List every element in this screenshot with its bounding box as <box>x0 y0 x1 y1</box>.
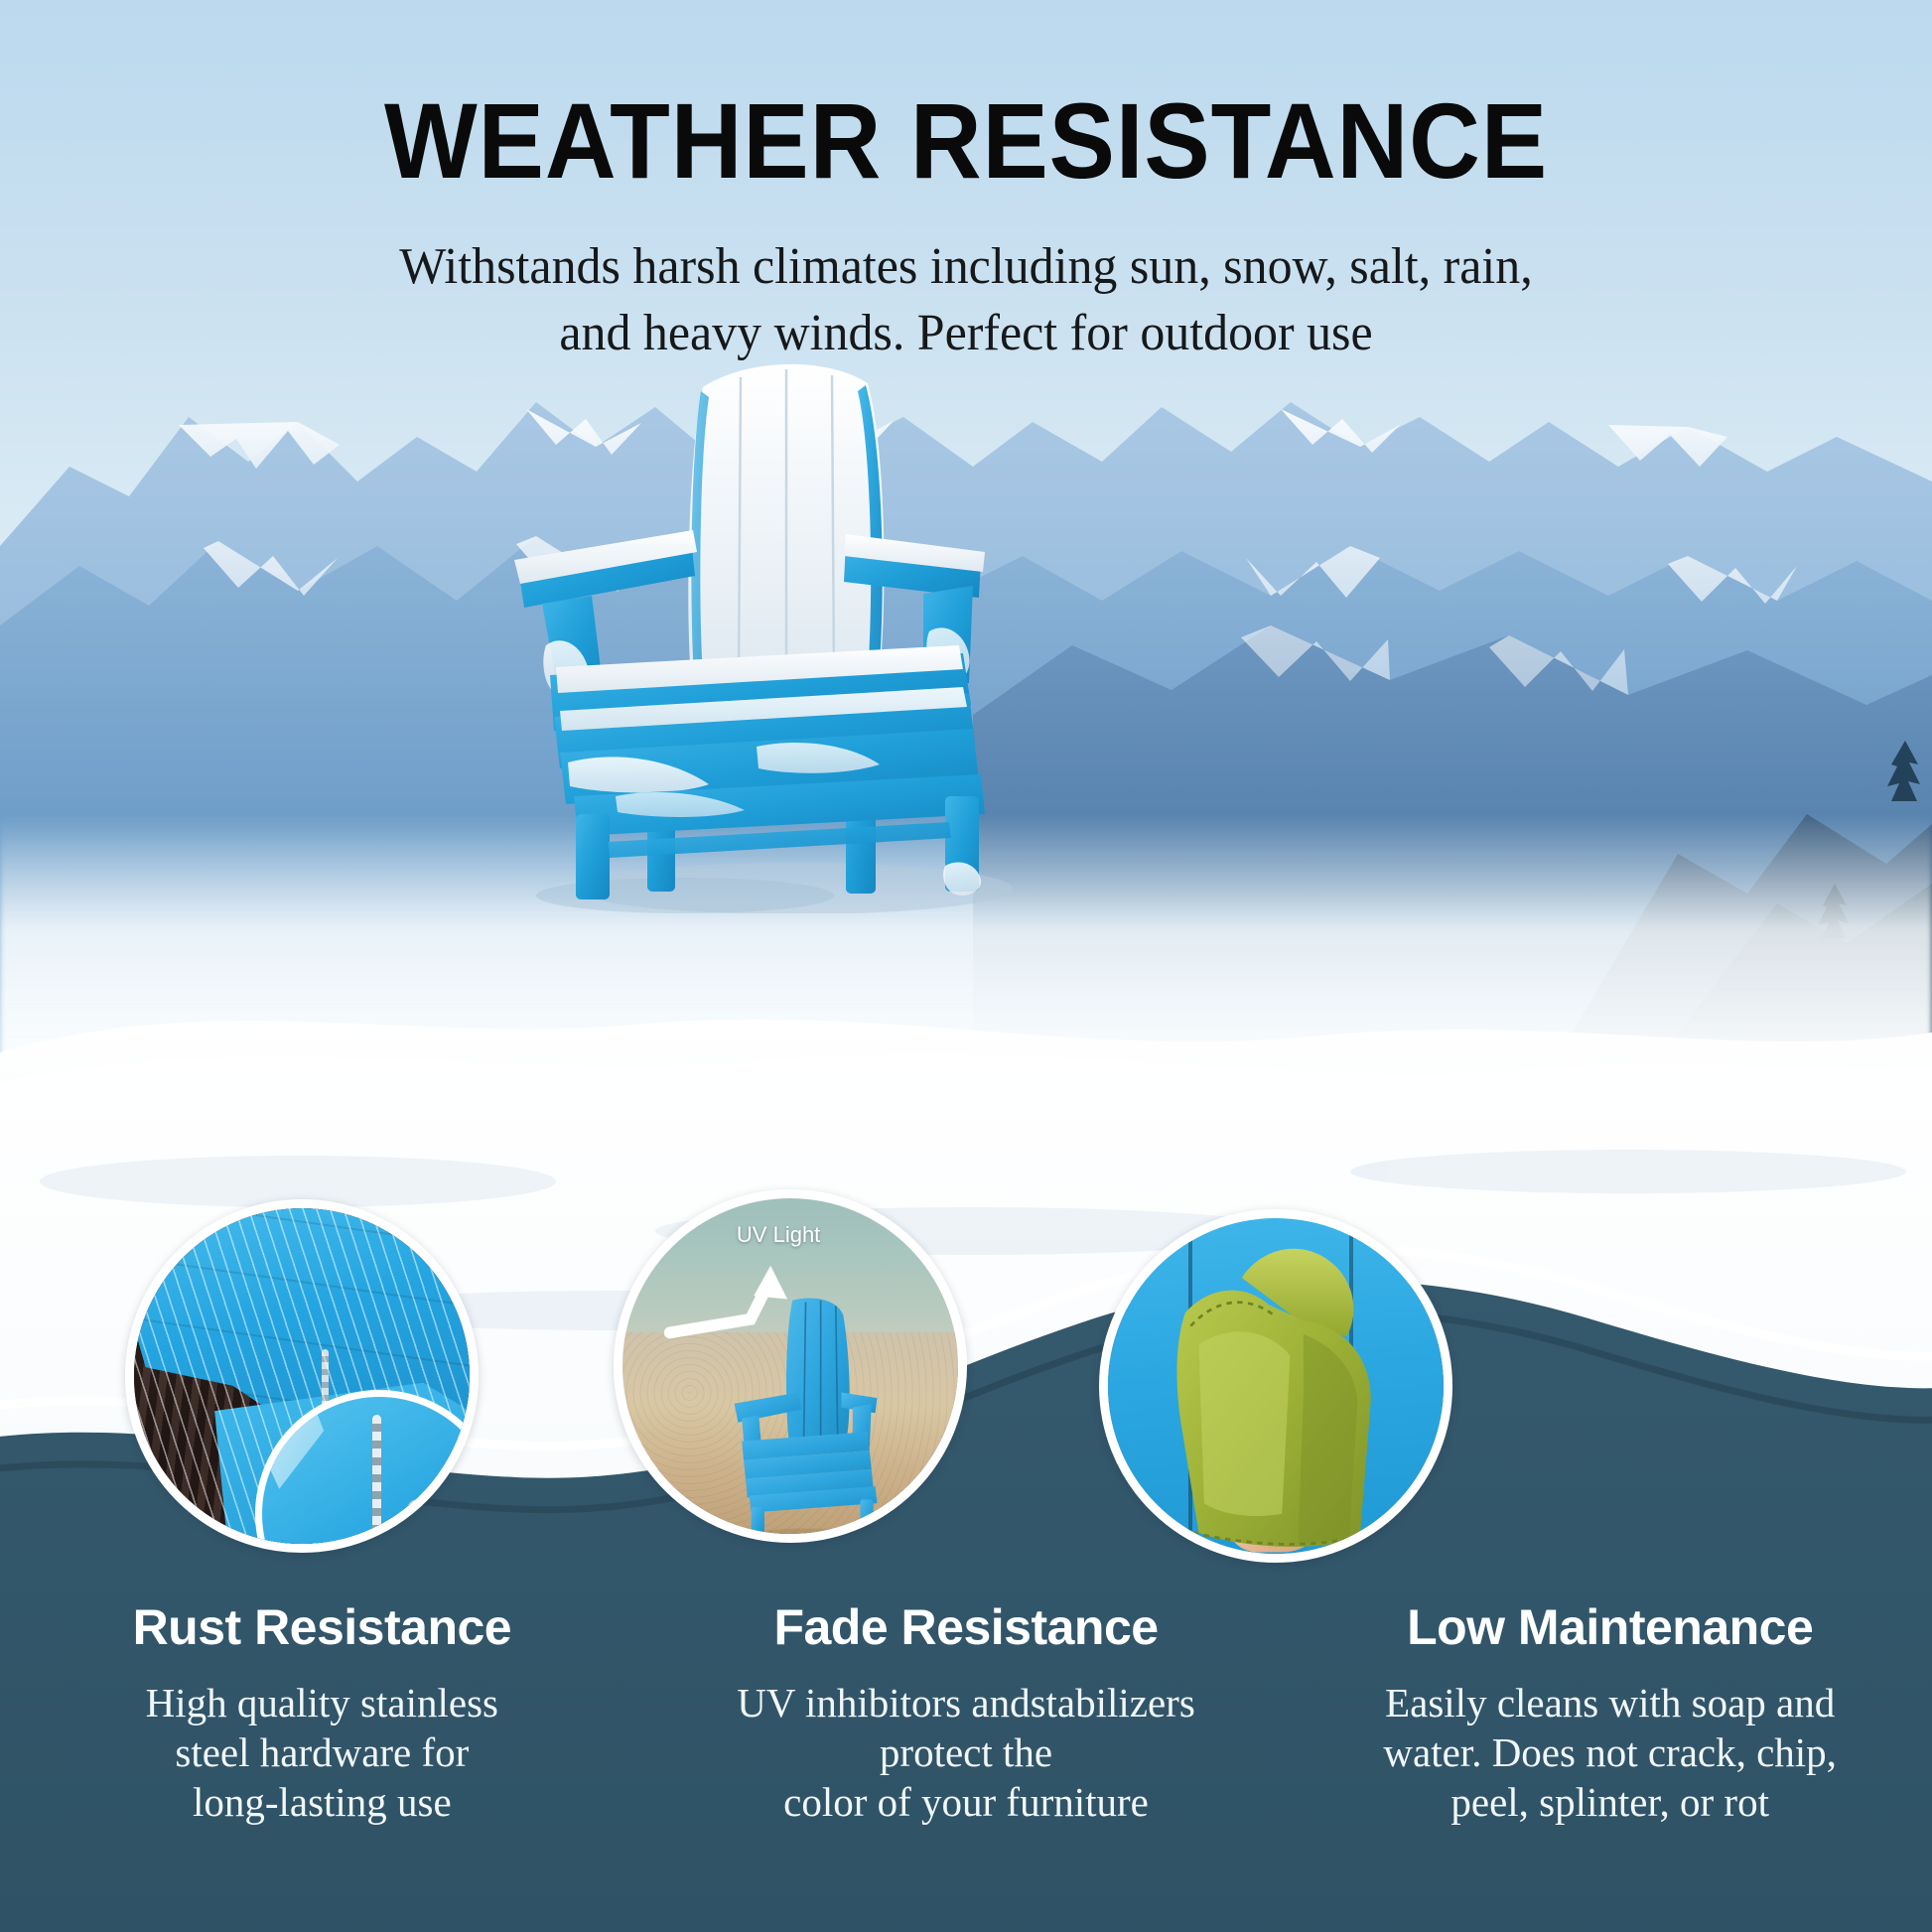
feature-title: Rust Resistance <box>24 1598 621 1656</box>
feature-image-rust-resistance <box>125 1199 479 1553</box>
stainless-steel-chain-closeup <box>372 1415 381 1553</box>
header-block: WEATHER RESISTANCE Withstands harsh clim… <box>0 0 1932 366</box>
subtitle-line-2: and heavy winds. Perfect for outdoor use <box>39 301 1893 367</box>
feature-desc-line: protect the <box>668 1727 1265 1777</box>
feature-desc-line: UV inhibitors andstabilizers <box>668 1678 1265 1727</box>
feature-rust-resistance: Rust Resistance High quality stainless s… <box>0 1598 644 1827</box>
feature-description: Easily cleans with soap and water. Does … <box>1311 1678 1908 1827</box>
page-subtitle: Withstands harsh climates including sun,… <box>39 234 1893 366</box>
feature-desc-line: long-lasting use <box>24 1777 621 1827</box>
feature-image-low-maintenance <box>1099 1209 1452 1563</box>
adirondack-chair-snow-covered <box>496 347 1052 913</box>
feature-description: UV inhibitors andstabilizers protect the… <box>668 1678 1265 1827</box>
feature-desc-line: color of your furniture <box>668 1777 1265 1827</box>
feature-caption-row: Rust Resistance High quality stainless s… <box>0 1598 1932 1827</box>
feature-description: High quality stainless steel hardware fo… <box>24 1678 621 1827</box>
uv-light-label: UV Light <box>737 1222 820 1248</box>
stainless-bolt <box>407 1499 429 1521</box>
feature-fade-resistance: Fade Resistance UV inhibitors andstabili… <box>644 1598 1289 1827</box>
infographic-canvas: UV Light <box>0 0 1932 1932</box>
feature-low-maintenance: Low Maintenance Easily cleans with soap … <box>1288 1598 1932 1827</box>
uv-light-arrow-icon <box>663 1259 865 1359</box>
feature-image-fade-resistance: UV Light <box>614 1189 967 1543</box>
green-microfiber-cloth <box>1142 1232 1417 1554</box>
feature-title: Fade Resistance <box>668 1598 1265 1656</box>
feature-desc-line: peel, splinter, or rot <box>1311 1777 1908 1827</box>
feature-desc-line: High quality stainless <box>24 1678 621 1727</box>
feature-desc-line: steel hardware for <box>24 1727 621 1777</box>
page-title: WEATHER RESISTANCE <box>77 87 1855 195</box>
feature-desc-line: Easily cleans with soap and <box>1311 1678 1908 1727</box>
feature-desc-line: water. Does not crack, chip, <box>1311 1727 1908 1777</box>
subtitle-line-1: Withstands harsh climates including sun,… <box>39 234 1893 301</box>
feature-title: Low Maintenance <box>1311 1598 1908 1656</box>
